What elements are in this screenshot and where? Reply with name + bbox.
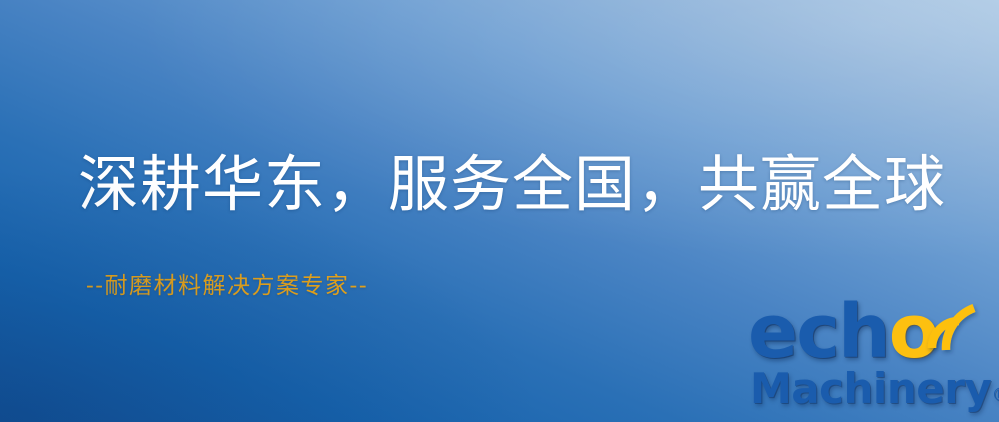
signal-waves-icon <box>902 292 988 366</box>
logo-text-machinery: Machinery® <box>750 368 999 410</box>
logo-machinery-word: Machinery <box>750 364 991 413</box>
hero-banner: 深耕华东，服务全国，共赢全球 --耐磨材料解决方案专家-- ech o <box>0 0 999 422</box>
logo-mark: ech o Machinery® <box>742 292 995 418</box>
banner-headline: 深耕华东，服务全国，共赢全球 <box>78 150 958 220</box>
echo-machinery-logo: ech o Machinery® <box>742 292 995 418</box>
registered-trademark-icon: ® <box>991 384 999 406</box>
banner-subtitle: --耐磨材料解决方案专家-- <box>86 266 368 300</box>
logo-text-ech: ech <box>748 297 889 368</box>
